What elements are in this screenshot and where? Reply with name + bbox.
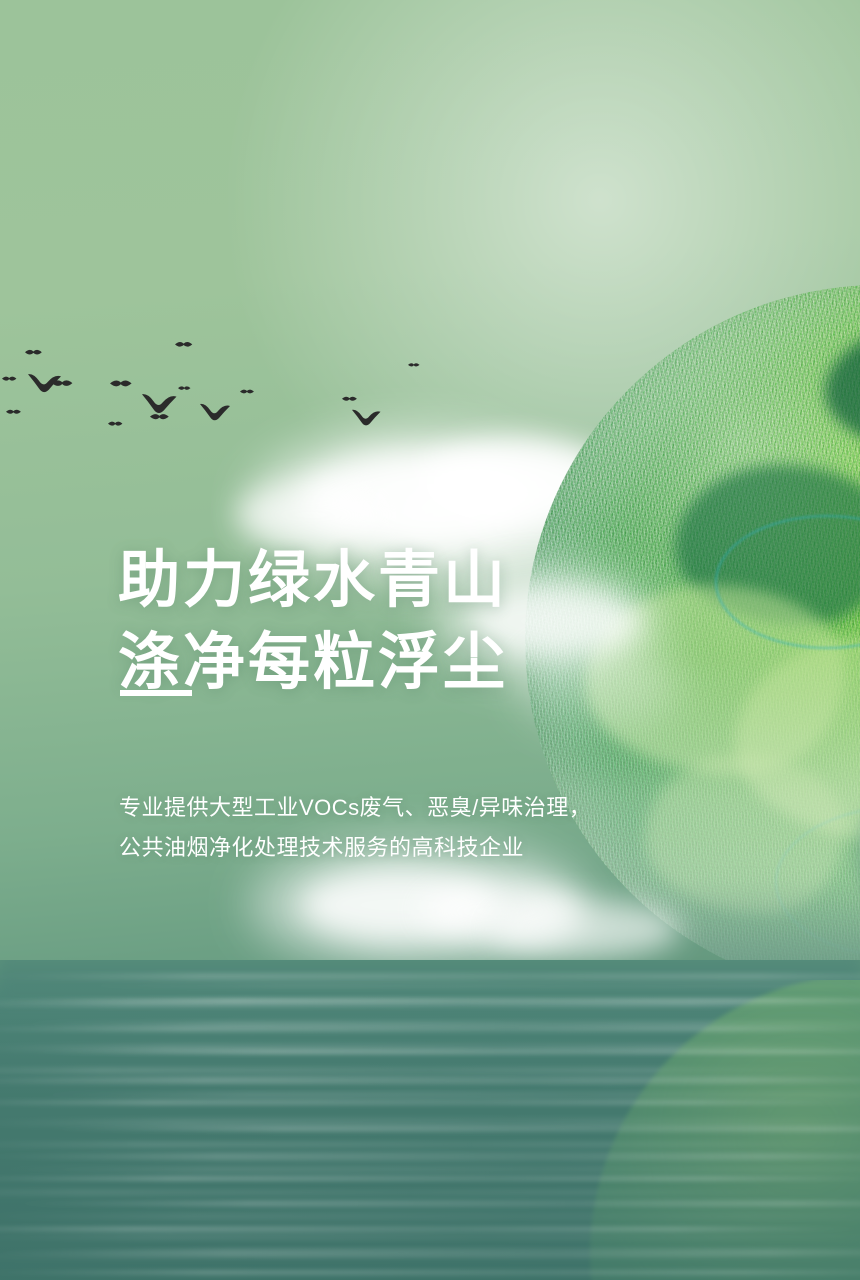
subtitle-line-1: 专业提供大型工业VOCs废气、恶臭/异味治理， (119, 795, 591, 820)
poster-content: 助力绿水青山 涤净每粒浮尘 专业提供大型工业VOCs废气、恶臭/异味治理， 公共… (0, 0, 860, 1280)
page-title: 助力绿水青山 涤净每粒浮尘 (118, 540, 508, 704)
page-subtitle: 专业提供大型工业VOCs废气、恶臭/异味治理， 公共油烟净化处理技术服务的高科技… (119, 788, 591, 868)
title-divider (120, 690, 192, 696)
subtitle-line-2: 公共油烟净化处理技术服务的高科技企业 (119, 828, 591, 868)
eco-hero-poster: 助力绿水青山 涤净每粒浮尘 专业提供大型工业VOCs废气、恶臭/异味治理， 公共… (0, 0, 860, 1280)
headline-line-1: 助力绿水青山 (118, 546, 508, 615)
